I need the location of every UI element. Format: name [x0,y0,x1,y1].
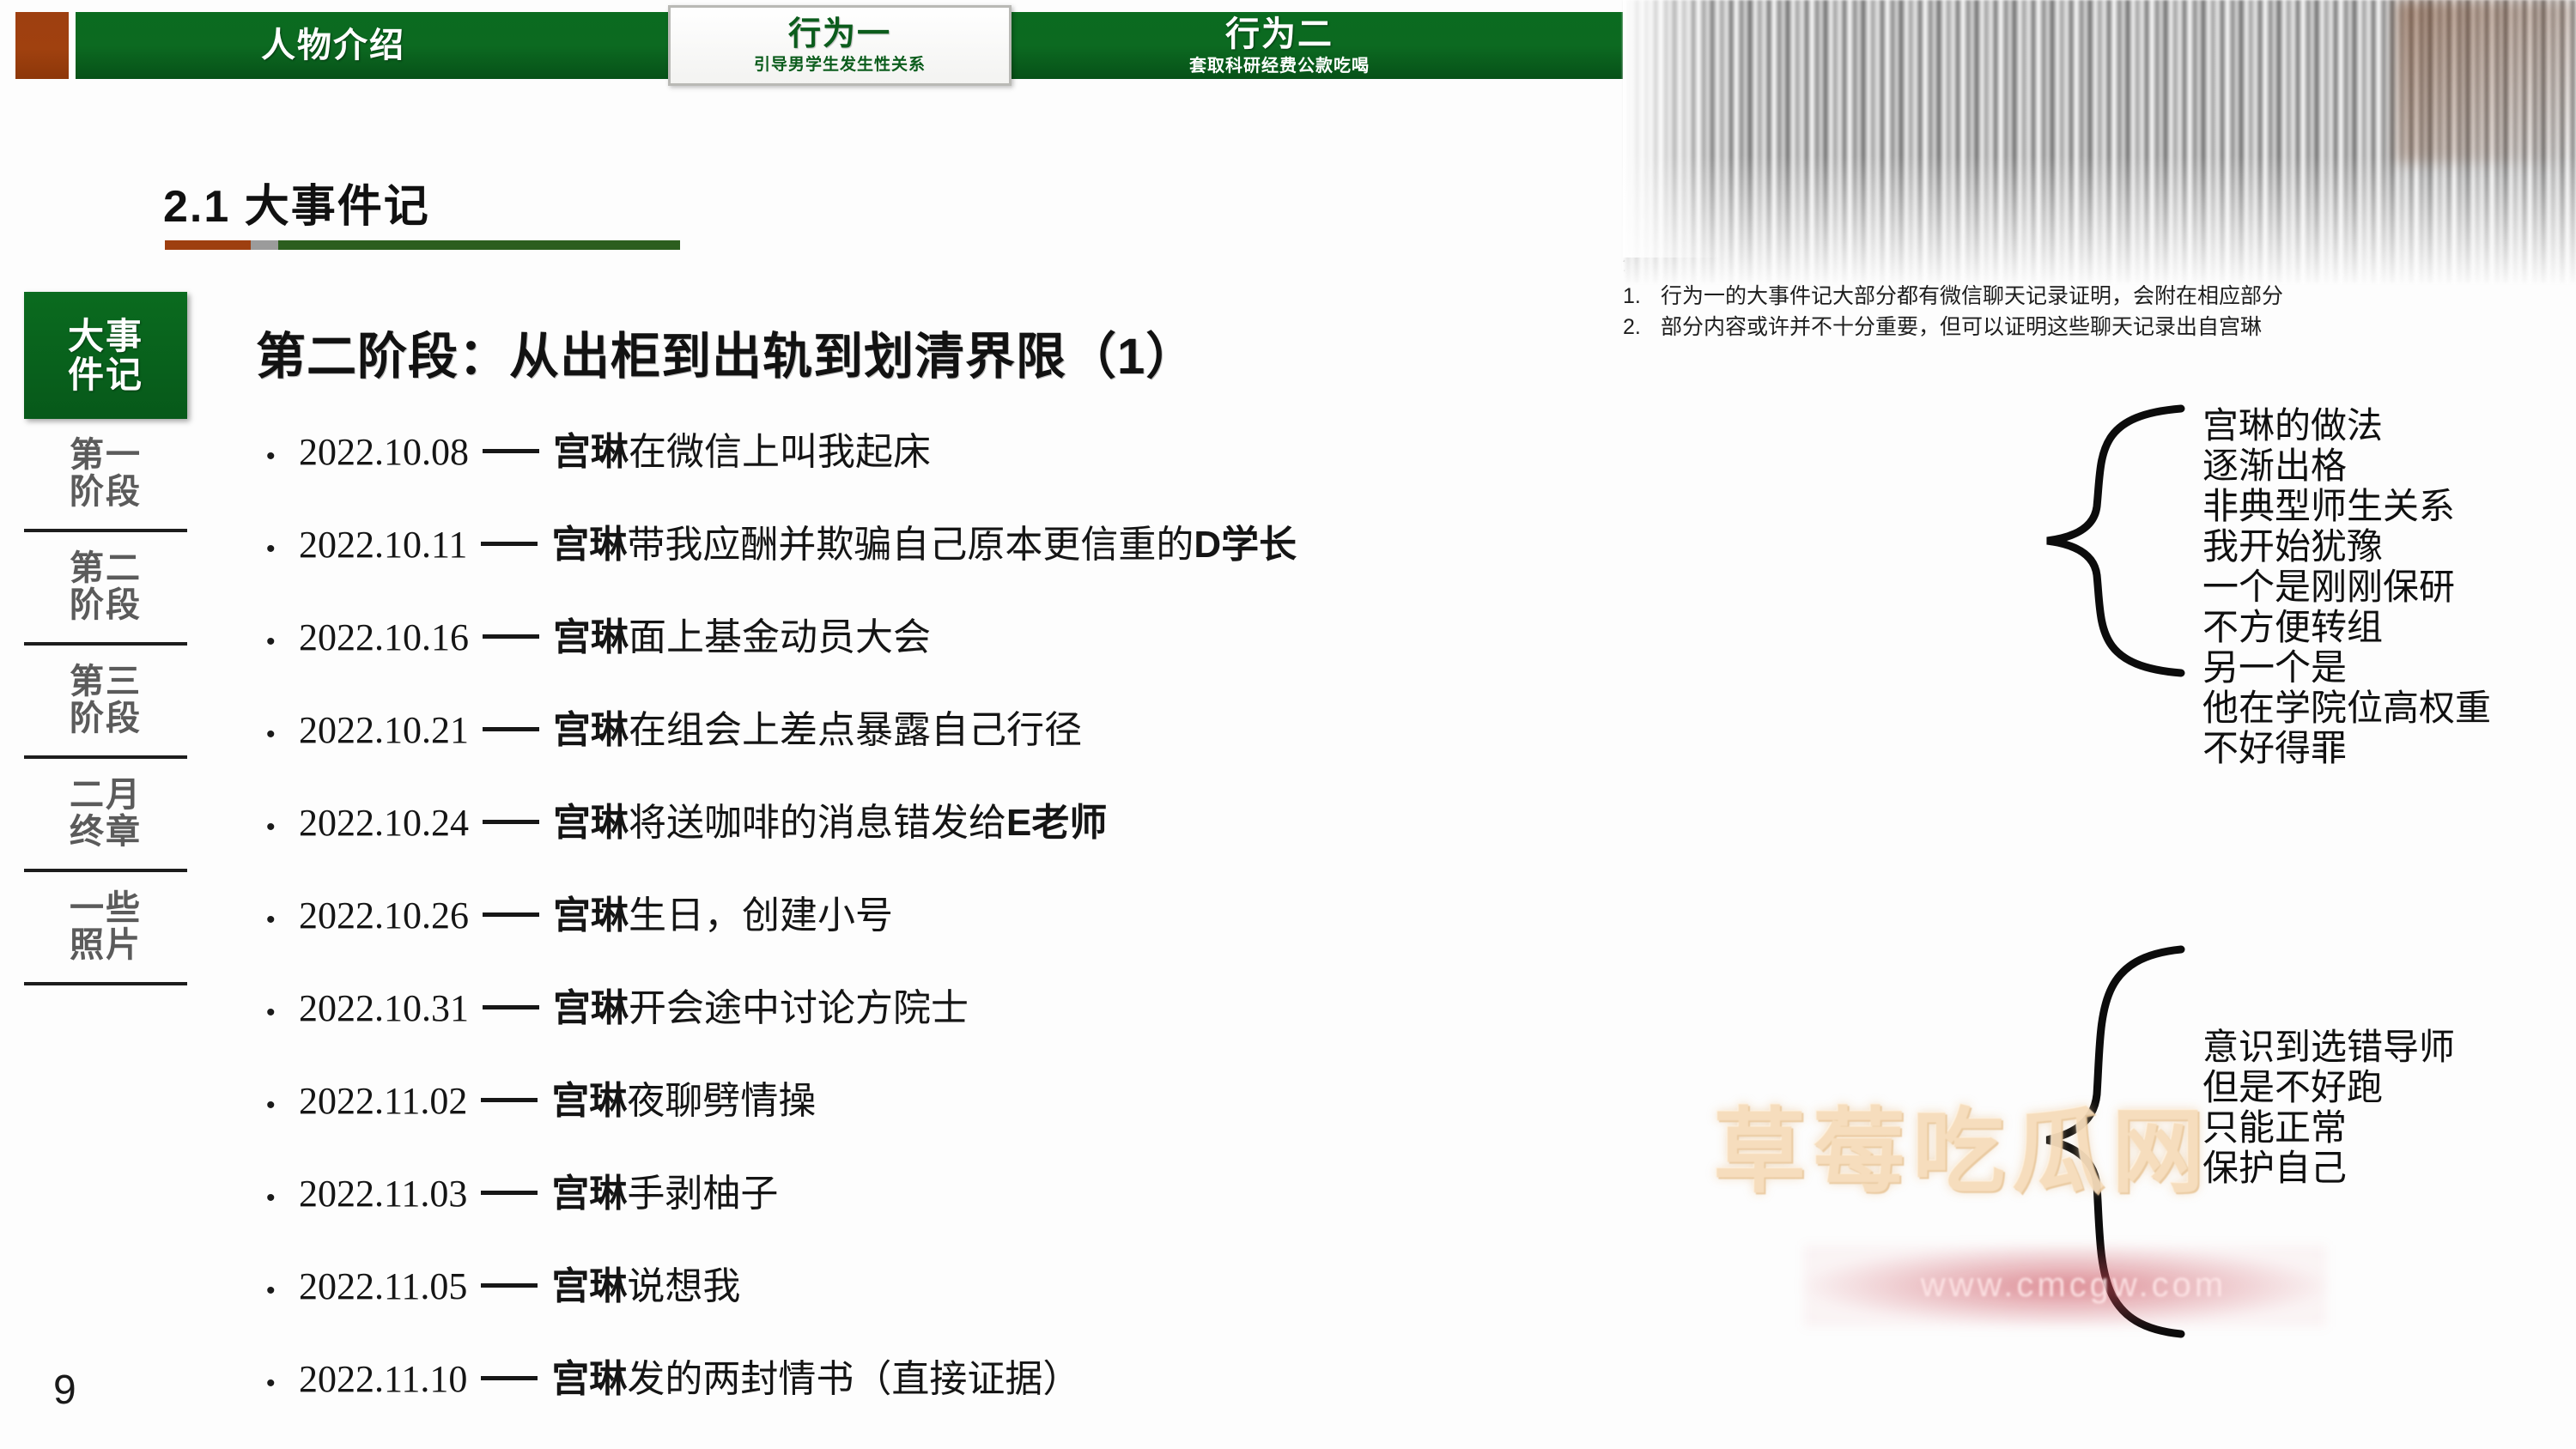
timeline-dash-icon [483,727,539,731]
slide-canvas: 人物介绍 行为二 套取科研经费公款吃喝 行为一 引导男学生发生性关系 2.1 大… [0,0,2576,1449]
sidebar-item-phase-two-line1: 第二 [70,550,142,587]
note-number: 2. [1623,312,1661,343]
tab-behavior-two-label-wrap[interactable]: 行为二 套取科研经费公款吃喝 [1013,12,1546,79]
sidebar-item-phase-one-line1: 第一 [70,437,142,474]
timeline-dash-icon [483,1005,539,1009]
bullet-icon: • [266,444,299,470]
timeline-text: 宫琳将送咖啡的消息错发给E老师 [553,791,1107,846]
timeline-date: 2022.10.26 [299,894,469,937]
tab-behavior-one-sublabel: 引导男学生发生性关系 [754,57,926,73]
timeline-date: 2022.11.03 [299,1172,467,1216]
timeline-date: 2022.10.21 [299,708,469,752]
bullet-icon: • [266,1185,299,1211]
timeline-subject: 宫琳 [551,1265,627,1307]
sidebar-item-phase-three-line2: 阶段 [70,700,142,737]
sidebar-item-february-finale[interactable]: 二月 终章 [24,759,187,872]
timeline-subject: 宫琳 [553,616,629,658]
list-item: • 2022.10.11 宫琳带我应酬并欺骗自己原本更信重的D学长 [266,513,1726,606]
tab-behavior-two-label: 行为二 [1225,17,1334,52]
topbar-accent-block [15,12,69,79]
tab-behavior-two-sublabel: 套取科研经费公款吃喝 [1189,58,1370,75]
annotation-lower: 意识到选错导师 但是不好跑 只能正常 保护自己 [2202,1027,2455,1188]
bullet-icon: • [266,722,299,748]
sidebar-item-phase-two-line2: 阶段 [70,587,142,624]
list-item: • 2022.10.21 宫琳在组会上差点暴露自己行径 [266,699,1726,791]
timeline-subject: 宫琳 [551,1080,627,1122]
timeline-body: 夜聊劈情操 [627,1080,816,1122]
annotation-upper-line: 不好得罪 [2202,728,2491,768]
timeline-text: 宫琳发的两封情书（直接证据） [551,1348,1080,1403]
timeline-subject: 宫琳 [553,802,629,844]
list-item: • 2022.10.24 宫琳将送咖啡的消息错发给E老师 [266,791,1726,884]
curly-brace-icon-lower [2001,944,2207,1339]
annotation-lower-line: 只能正常 [2202,1107,2455,1148]
timeline-text: 宫琳带我应酬并欺骗自己原本更信重的D学长 [551,513,1297,568]
timeline-body: 在微信上叫我起床 [629,431,931,473]
timeline-dash-icon [481,1283,538,1288]
bullet-icon: • [266,629,299,655]
bullet-icon: • [266,815,299,840]
timeline-body: 开会途中讨论方院士 [629,987,969,1029]
timeline-subject: 宫琳 [551,524,627,566]
annotation-lower-line: 但是不好跑 [2202,1067,2455,1107]
topbar-fade-edge [1820,12,1958,79]
annotation-upper-line: 宫琳的做法 [2202,405,2491,446]
list-item: • 2022.10.26 宫琳生日，创建小号 [266,884,1726,977]
annotation-upper-line: 逐渐出格 [2202,446,2491,486]
timeline-text: 宫琳在微信上叫我起床 [553,421,931,476]
timeline-list: • 2022.10.08 宫琳在微信上叫我起床 • 2022.10.11 宫琳带… [266,421,1726,1440]
note-text: 行为一的大事件记大部分都有微信聊天记录证明，会附在相应部分 [1661,284,2283,308]
timeline-date: 2022.11.02 [299,1079,467,1123]
bullet-icon: • [266,1093,299,1119]
timeline-text: 宫琳说想我 [551,1255,740,1310]
timeline-text: 宫琳开会途中讨论方院士 [553,977,969,1032]
timeline-dash-icon [483,449,539,453]
note-number: 1. [1623,282,1661,312]
timeline-dash-icon [483,912,539,917]
sidebar-item-events-line2: 件记 [68,355,143,394]
list-item: • 2022.11.03 宫琳手剥柚子 [266,1162,1726,1255]
bullet-icon: • [266,907,299,933]
timeline-body: 在组会上差点暴露自己行径 [629,709,1082,751]
timeline-body: 发的两封情书（直接证据） [627,1358,1080,1400]
timeline-dash-icon [481,1191,538,1195]
sidebar-navigation: 大事 件记 第一 阶段 第二 阶段 第三 阶段 二月 终章 一些 照片 [24,292,187,985]
list-item: • 2022.11.10 宫琳发的两封情书（直接证据） [266,1348,1726,1440]
timeline-text: 宫琳夜聊劈情操 [551,1070,816,1125]
page-number: 9 [53,1367,76,1414]
timeline-tail: E老师 [1006,802,1107,844]
bullet-icon: • [266,1278,299,1304]
sidebar-item-photos-line1: 一些 [70,890,142,927]
list-item: • 2022.11.02 宫琳夜聊劈情操 [266,1070,1726,1162]
sidebar-item-events-active[interactable]: 大事 件记 [24,292,187,419]
sidebar-item-phase-one[interactable]: 第一 阶段 [24,419,187,532]
tab-behavior-one-label: 行为一 [788,18,891,51]
timeline-tail: D学长 [1194,524,1297,566]
note-line: 1.行为一的大事件记大部分都有微信聊天记录证明，会附在相应部分 [1623,282,2576,312]
sidebar-item-phase-three-line1: 第三 [70,664,142,700]
timeline-subject: 宫琳 [553,894,629,937]
timeline-text: 宫琳生日，创建小号 [553,884,893,939]
timeline-date: 2022.10.16 [299,615,469,659]
timeline-dash-icon [481,542,538,546]
section-heading-underline [165,240,680,250]
timeline-date: 2022.10.24 [299,801,469,845]
curly-brace-icon-upper [2001,403,2207,678]
timeline-subject: 宫琳 [553,709,629,751]
annotation-lower-line: 意识到选错导师 [2202,1027,2455,1067]
timeline-text: 宫琳手剥柚子 [551,1162,778,1217]
timeline-dash-icon [483,634,539,639]
annotation-upper-line: 他在学院位高权重 [2202,688,2491,728]
bullet-icon: • [266,537,299,562]
bullet-icon: • [266,1000,299,1026]
tab-person-intro-label: 人物介绍 [261,28,405,63]
timeline-date: 2022.10.08 [299,430,469,474]
page-title: 第二阶段：从出柜到出轨到划清界限（1） [256,316,1196,388]
sidebar-item-phase-one-line2: 阶段 [70,474,142,511]
timeline-date: 2022.10.11 [299,523,467,567]
timeline-subject: 宫琳 [551,1358,627,1400]
list-item: • 2022.10.31 宫琳开会途中讨论方院士 [266,977,1726,1070]
note-line: 2.部分内容或许并不十分重要，但可以证明这些聊天记录出自宫琳 [1623,312,2576,343]
section-heading: 2.1 大事件记 [163,170,430,234]
timeline-text: 宫琳在组会上差点暴露自己行径 [553,699,1082,754]
timeline-body: 手剥柚子 [627,1173,778,1215]
annotation-upper: 宫琳的做法 逐渐出格 非典型师生关系 我开始犹豫 一个是刚刚保研 不方便转组 另… [2202,405,2491,768]
timeline-dash-icon [483,820,539,824]
timeline-date: 2022.10.31 [299,986,469,1030]
tab-person-intro-label-wrap[interactable]: 人物介绍 [76,12,591,79]
timeline-subject: 宫琳 [553,431,629,473]
list-item: • 2022.11.05 宫琳说想我 [266,1255,1726,1348]
timeline-date: 2022.11.10 [299,1357,467,1401]
sidebar-item-february-finale-line2: 终章 [70,814,142,851]
sidebar-item-phase-three[interactable]: 第三 阶段 [24,646,187,759]
timeline-body: 生日，创建小号 [629,894,893,937]
sidebar-item-phase-two[interactable]: 第二 阶段 [24,532,187,646]
notes-block: 注意 1.行为一的大事件记大部分都有微信聊天记录证明，会附在相应部分 2.部分内… [1623,251,2576,343]
timeline-body: 带我应酬并欺骗自己原本更信重的 [627,524,1194,566]
timeline-date: 2022.11.05 [299,1264,467,1308]
annotation-upper-line: 非典型师生关系 [2202,486,2491,526]
timeline-dash-icon [481,1376,538,1380]
timeline-subject: 宫琳 [553,987,629,1029]
tab-behavior-one-active[interactable]: 行为一 引导男学生发生性关系 [668,5,1012,86]
timeline-body: 说想我 [627,1265,740,1307]
annotation-upper-line: 一个是刚刚保研 [2202,567,2491,607]
list-item: • 2022.10.08 宫琳在微信上叫我起床 [266,421,1726,513]
list-item: • 2022.10.16 宫琳面上基金动员大会 [266,606,1726,699]
timeline-body: 面上基金动员大会 [629,616,931,658]
timeline-subject: 宫琳 [551,1173,627,1215]
annotation-upper-line: 我开始犹豫 [2202,526,2491,567]
notes-title: 注意 [1623,251,2576,276]
annotation-lower-line: 保护自己 [2202,1148,2455,1188]
top-navigation-bar: 人物介绍 行为二 套取科研经费公款吃喝 行为一 引导男学生发生性关系 [0,12,2576,79]
timeline-text: 宫琳面上基金动员大会 [553,606,931,661]
sidebar-item-february-finale-line1: 二月 [70,777,142,814]
annotation-upper-line: 不方便转组 [2202,607,2491,647]
sidebar-item-events-line1: 大事 [68,317,143,355]
timeline-body: 将送咖啡的消息错发给 [629,802,1006,844]
bullet-icon: • [266,1371,299,1397]
sidebar-item-photos[interactable]: 一些 照片 [24,872,187,985]
sidebar-item-photos-line2: 照片 [70,927,142,964]
timeline-dash-icon [481,1098,538,1102]
note-text: 部分内容或许并不十分重要，但可以证明这些聊天记录出自宫琳 [1661,315,2262,339]
annotation-upper-line: 另一个是 [2202,647,2491,688]
